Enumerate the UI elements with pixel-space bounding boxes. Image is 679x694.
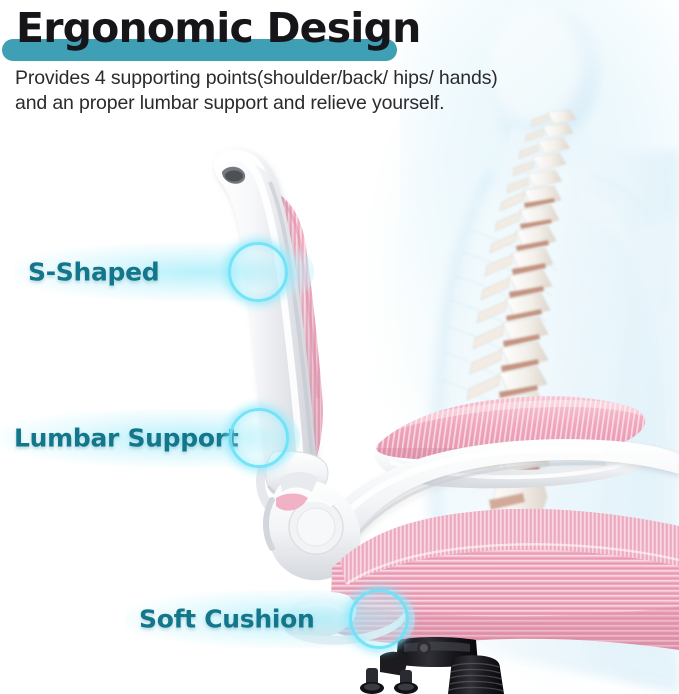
header: Ergonomic Design Provides 4 supporting p…	[0, 0, 679, 62]
title-wrap: Ergonomic Design	[0, 0, 679, 62]
callout-label-lumbar-support: Lumbar Support	[14, 424, 238, 453]
subtitle-line-2: and an proper lumbar support and relieve…	[15, 91, 635, 116]
callout-lumbar-support: Lumbar Support	[0, 409, 300, 467]
callout-s-shaped: S-Shaped	[14, 243, 314, 301]
callout-label-s-shaped: S-Shaped	[28, 258, 159, 287]
callout-ring-icon	[229, 408, 289, 468]
subtitle-line-1: Provides 4 supporting points(shoulder/ba…	[15, 66, 635, 91]
callout-ring-icon	[349, 589, 409, 649]
page-title: Ergonomic Design	[16, 4, 421, 52]
callout-ring-icon	[228, 242, 288, 302]
callout-label-soft-cushion: Soft Cushion	[139, 605, 314, 634]
subtitle: Provides 4 supporting points(shoulder/ba…	[15, 66, 635, 116]
callout-soft-cushion: Soft Cushion	[125, 590, 415, 648]
product-infographic: Ergonomic Design Provides 4 supporting p…	[0, 0, 679, 694]
